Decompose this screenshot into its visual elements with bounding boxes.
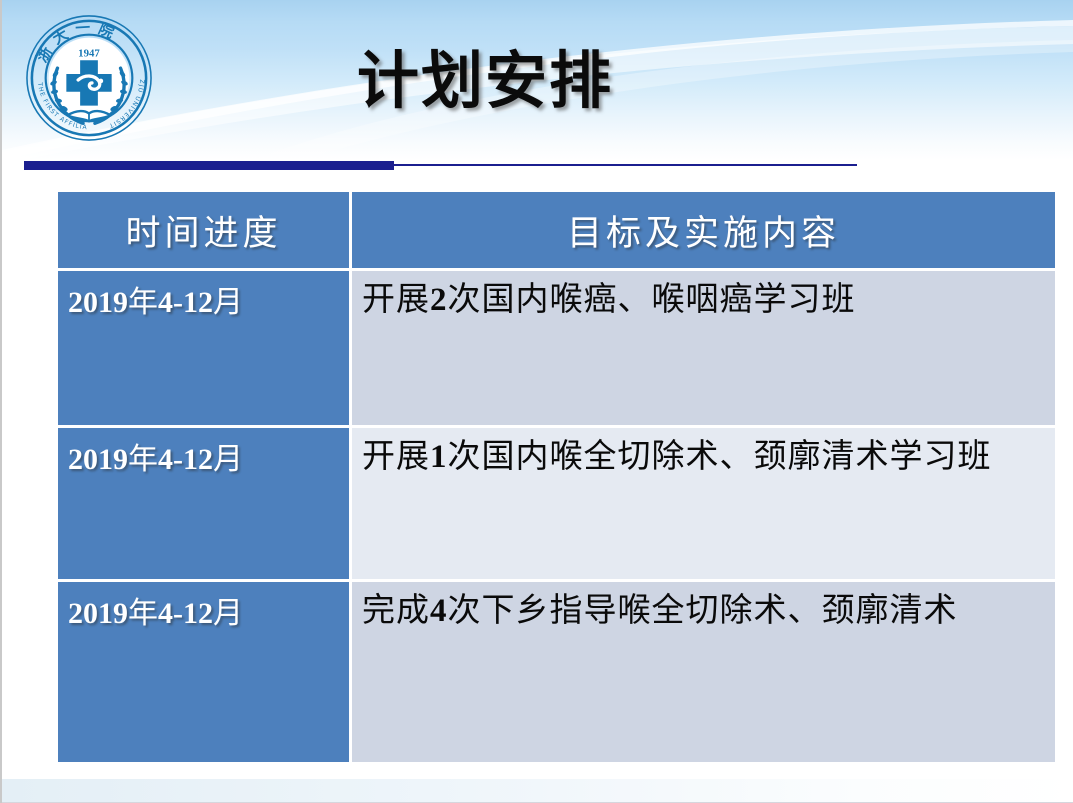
slide-canvas: 1947 浙大一院 THE FIRST AFFILIATED HOSPITAL … bbox=[0, 0, 1073, 803]
page-title: 计划安排 bbox=[357, 47, 777, 115]
cell-content: 完成4次下乡指导喉全切除术、颈廓清术 bbox=[352, 582, 1055, 762]
header-cell-content: 目标及实施内容 bbox=[352, 192, 1055, 271]
footer-gradient-strip bbox=[2, 779, 1073, 803]
cell-content: 开展1次国内喉全切除术、颈廓清术学习班 bbox=[352, 428, 1055, 582]
cell-time: 2019年4-12月 bbox=[58, 428, 352, 582]
title-underline-thick bbox=[24, 161, 394, 170]
cell-time: 2019年4-12月 bbox=[58, 271, 352, 428]
hospital-logo-icon: 1947 浙大一院 THE FIRST AFFILIATED HOSPITAL … bbox=[24, 12, 154, 144]
cell-time: 2019年4-12月 bbox=[58, 582, 352, 762]
logo-year: 1947 bbox=[78, 47, 100, 59]
table-header-row: 时间进度 目标及实施内容 bbox=[58, 192, 1055, 271]
schedule-table: 时间进度 目标及实施内容 2019年4-12月 开展2次国内喉癌、喉咽癌学习班 … bbox=[58, 192, 1055, 762]
table-row: 2019年4-12月 完成4次下乡指导喉全切除术、颈廓清术 bbox=[58, 582, 1055, 762]
header-cell-time: 时间进度 bbox=[58, 192, 352, 271]
table-row: 2019年4-12月 开展2次国内喉癌、喉咽癌学习班 bbox=[58, 271, 1055, 428]
table-row: 2019年4-12月 开展1次国内喉全切除术、颈廓清术学习班 bbox=[58, 428, 1055, 582]
cell-content: 开展2次国内喉癌、喉咽癌学习班 bbox=[352, 271, 1055, 428]
